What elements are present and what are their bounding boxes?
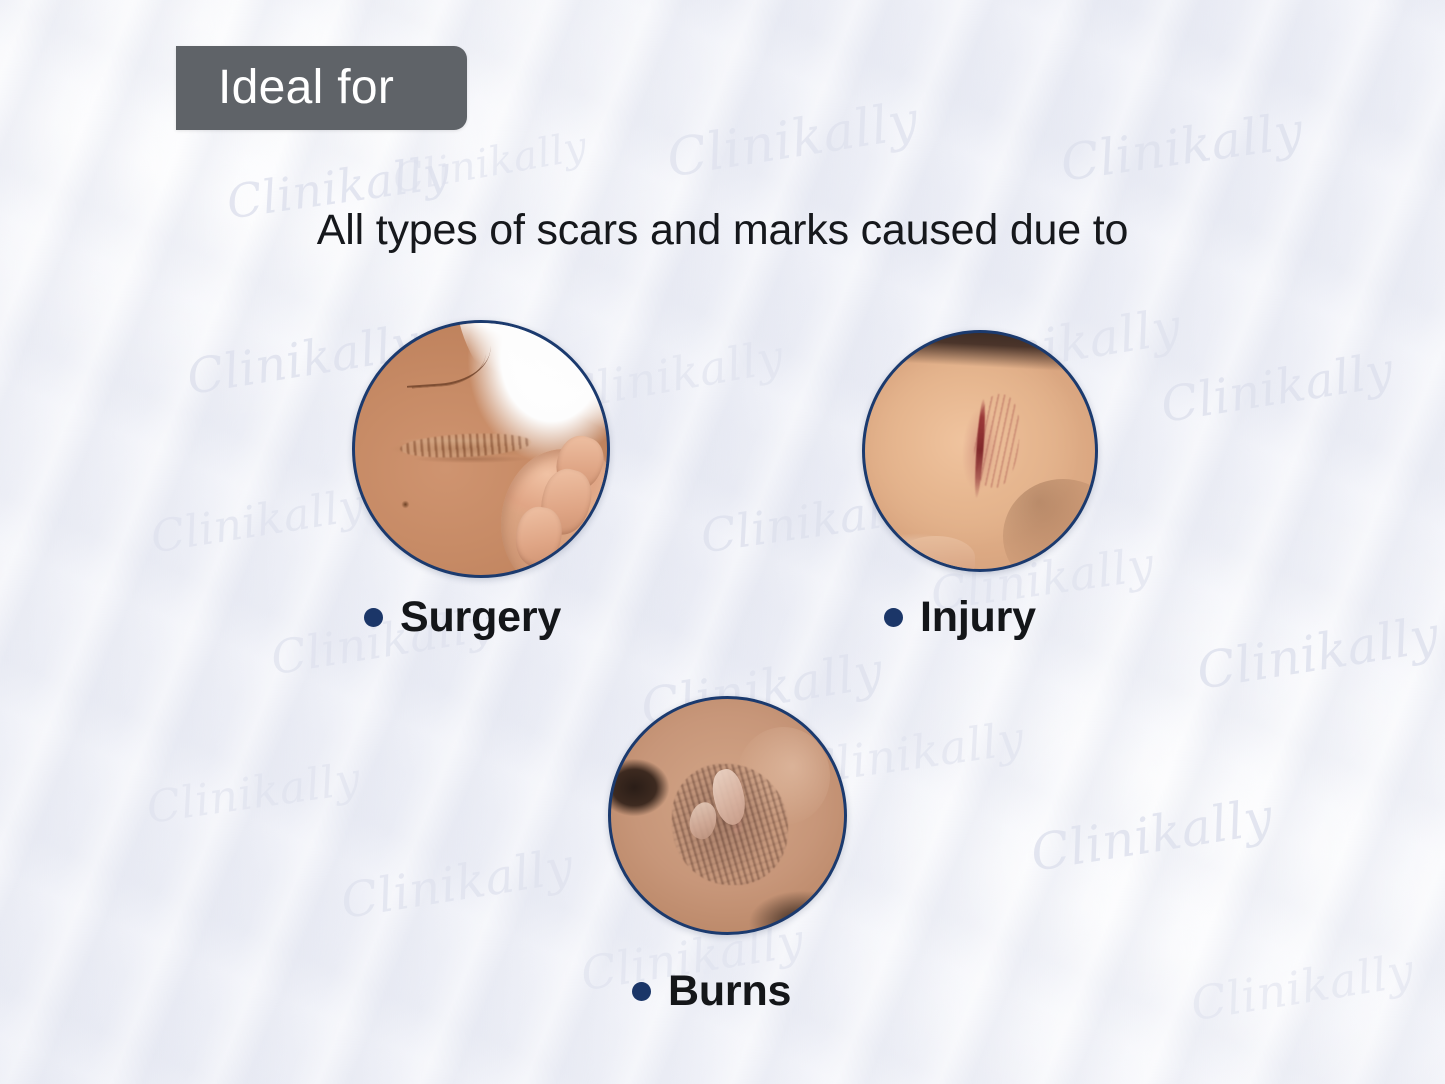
label-row-burns: Burns — [632, 970, 791, 1013]
bullet-icon — [364, 608, 383, 627]
surgery-scar-texture — [400, 430, 532, 459]
label-row-injury: Injury — [884, 596, 1036, 639]
card-injury — [862, 330, 1098, 572]
injury-photo — [862, 330, 1098, 572]
watermark-text: Clinikally — [1193, 605, 1443, 700]
label-row-surgery: Surgery — [364, 596, 561, 639]
injury-foot — [897, 536, 975, 572]
watermark-text: Clinikally — [147, 479, 367, 563]
watermark-text: Clinikally — [1187, 943, 1417, 1031]
surgery-strap-line-secondary — [409, 333, 488, 388]
burns-photo — [608, 696, 847, 935]
infographic-canvas: Clinikally Clinikally Clinikally Clinika… — [0, 0, 1445, 1084]
watermark-text: Clinikally — [389, 123, 590, 202]
card-burns — [608, 696, 847, 935]
bullet-icon — [884, 608, 903, 627]
label-injury: Injury — [920, 596, 1036, 639]
label-surgery: Surgery — [400, 596, 561, 639]
ideal-for-label: Ideal for — [176, 64, 394, 112]
watermark-text: Clinikally — [663, 91, 923, 190]
label-burns: Burns — [668, 970, 791, 1013]
injury-shadow — [1003, 479, 1098, 572]
watermark-text: Clinikally — [1157, 342, 1397, 434]
watermark-text: Clinikally — [337, 838, 577, 930]
bullet-icon — [632, 982, 651, 1001]
watermark-text: Clinikally — [1057, 101, 1306, 192]
watermark-text: Clinikally — [143, 753, 363, 833]
watermark-text: Clinikally — [1027, 787, 1277, 882]
card-surgery — [352, 320, 610, 578]
ideal-for-banner: Ideal for — [176, 46, 467, 130]
page-title: All types of scars and marks caused due … — [0, 206, 1445, 255]
surgery-photo — [352, 320, 610, 578]
